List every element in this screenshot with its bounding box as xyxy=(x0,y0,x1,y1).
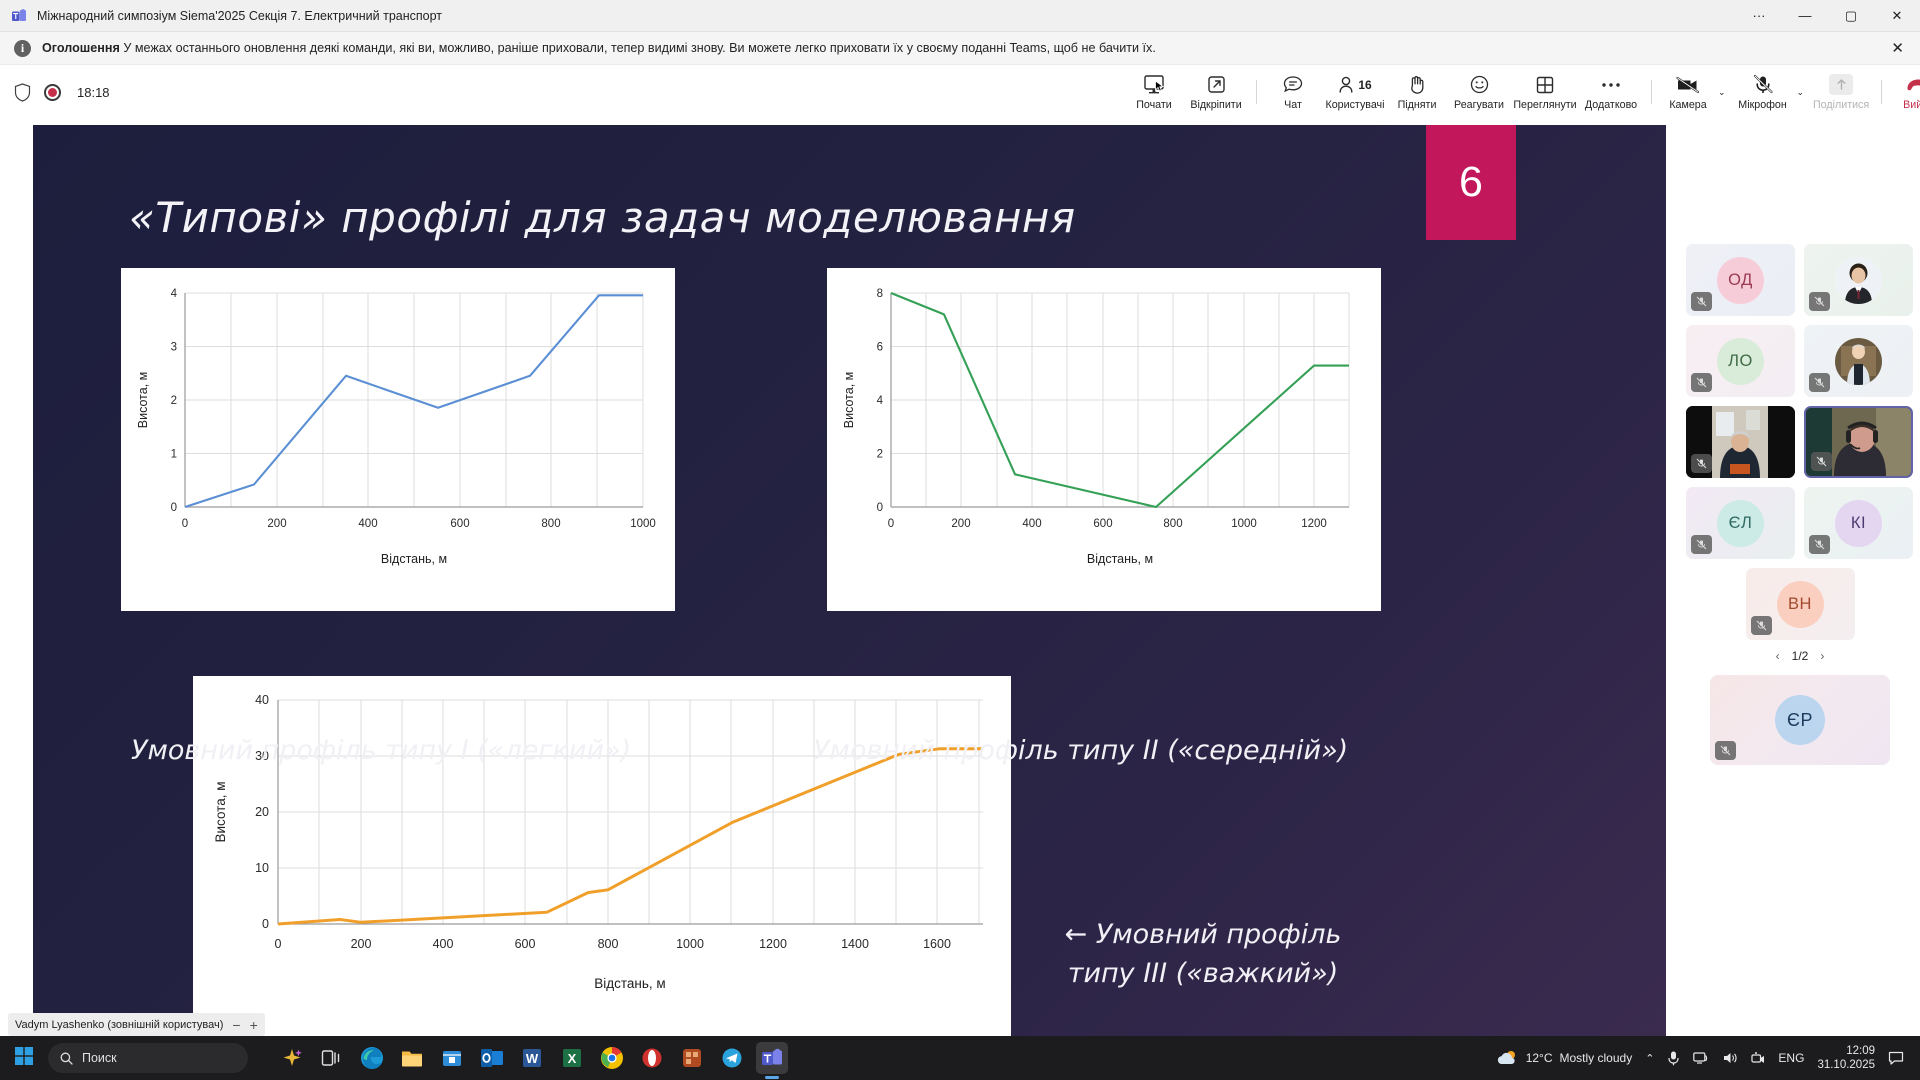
participant-pager: ‹ 1/2 › xyxy=(1686,649,1914,663)
windows-taskbar: Поиск W X xyxy=(0,1036,1920,1080)
chat-icon xyxy=(1282,73,1304,96)
participant-tiles: ОД xyxy=(1686,244,1914,640)
participants-label: Користувачі xyxy=(1326,99,1385,111)
info-icon: i xyxy=(14,40,31,57)
meeting-toolbar: 18:18 Почати xyxy=(0,65,1920,119)
camera-tray-icon[interactable] xyxy=(1751,1051,1765,1065)
svg-text:1400: 1400 xyxy=(841,937,869,951)
window-title-bar: Міжнародний симпозіум Siema'2025 Секція … xyxy=(0,0,1920,32)
meeting-timer: 18:18 xyxy=(77,85,110,100)
camera-chevron-down-icon[interactable]: ⌄ xyxy=(1714,87,1730,98)
leave-label: Вийти xyxy=(1903,99,1920,111)
meeting-controls: Почати Відкріпити xyxy=(1125,65,1920,119)
participant-tile[interactable] xyxy=(1804,244,1913,316)
avatar xyxy=(1835,257,1882,304)
start-presenting-button[interactable]: Почати xyxy=(1125,67,1183,117)
task-view-icon[interactable] xyxy=(316,1042,348,1074)
svg-text:200: 200 xyxy=(951,518,970,530)
shared-slide[interactable]: 6 «Типові» профілі для задач моделювання xyxy=(33,125,1666,1038)
weather-description: Mostly cloudy xyxy=(1560,1051,1633,1065)
svg-text:0: 0 xyxy=(888,518,894,530)
pager-page-indicator: 1/2 xyxy=(1792,649,1809,663)
annotation-profile-3: ← Умовний профіль типу III («важкий») xyxy=(1033,915,1373,993)
chart-1-svg: 4 3 2 1 0 0 200 400 600 800 1000 Відс xyxy=(121,268,675,611)
svg-text:3: 3 xyxy=(171,342,177,354)
participant-tile[interactable]: ЄЛ xyxy=(1686,487,1795,559)
announcement-body: У межах останнього оновлення деякі коман… xyxy=(123,41,1155,55)
slide-number-badge: 6 xyxy=(1426,125,1516,240)
chart-profile-type-3: 40 30 20 10 0 0 200 400 600 800 1000 120… xyxy=(193,676,1011,1038)
avatar: ВН xyxy=(1777,581,1824,628)
microphone-button[interactable]: Мікрофон xyxy=(1730,67,1796,117)
edge-icon[interactable] xyxy=(356,1042,388,1074)
record-icon[interactable] xyxy=(44,84,61,101)
participants-count: 16 xyxy=(1358,78,1371,92)
share-button[interactable]: Поділитися xyxy=(1808,67,1874,117)
outlook-icon[interactable] xyxy=(476,1042,508,1074)
svg-text:1000: 1000 xyxy=(676,937,704,951)
svg-text:10: 10 xyxy=(255,861,269,875)
svg-text:200: 200 xyxy=(267,518,286,530)
mic-off-icon xyxy=(1715,741,1736,760)
svg-text:1: 1 xyxy=(171,449,177,461)
unpin-button[interactable]: Відкріпити xyxy=(1183,67,1249,117)
participant-tile[interactable]: ВН xyxy=(1746,568,1855,640)
participant-tile[interactable]: ОД xyxy=(1686,244,1795,316)
window-maximize-button[interactable]: ▢ xyxy=(1828,0,1874,32)
weather-cloudy-icon xyxy=(1497,1049,1519,1067)
unpin-label: Відкріпити xyxy=(1190,99,1241,111)
chart-3-svg: 40 30 20 10 0 0 200 400 600 800 1000 120… xyxy=(193,676,1011,1038)
raise-hand-label: Підняти xyxy=(1398,99,1437,111)
share-tray-icon xyxy=(1829,73,1853,96)
camera-off-icon xyxy=(1675,73,1701,96)
pop-out-icon xyxy=(1206,73,1227,96)
toolbar-divider-2 xyxy=(1651,80,1652,104)
toolbar-divider-3 xyxy=(1881,80,1882,104)
presenter-name: Vadym Lyashenko (зовнішній користувач) xyxy=(15,1019,223,1031)
window-close-button[interactable]: ✕ xyxy=(1874,0,1920,32)
svg-text:1000: 1000 xyxy=(1231,518,1257,530)
chart-2-svg: 8 6 4 2 0 0 200 400 600 800 1000 1200 xyxy=(827,268,1381,611)
svg-text:1600: 1600 xyxy=(923,937,951,951)
microphone-label: Мікрофон xyxy=(1738,99,1786,111)
teams-app-icon xyxy=(10,7,28,25)
raise-hand-icon xyxy=(1407,73,1427,96)
spotlight-participant-tile[interactable]: ЄР xyxy=(1710,675,1890,765)
meeting-stage: 6 «Типові» профілі для задач моделювання xyxy=(0,119,1920,1044)
camera-label: Камера xyxy=(1669,99,1706,111)
avatar: ЄР xyxy=(1775,695,1825,745)
caption-profile-2: Умовний профіль типу II («середній») xyxy=(813,735,1348,766)
teams-icon[interactable] xyxy=(756,1042,788,1074)
mic-off-icon xyxy=(1811,452,1832,471)
window-title: Міжнародний симпозіум Siema'2025 Секція … xyxy=(37,9,442,23)
shield-icon[interactable] xyxy=(14,83,31,102)
hang-up-icon xyxy=(1905,73,1920,96)
svg-text:0: 0 xyxy=(182,518,188,530)
announcement-label: Оголошення xyxy=(42,41,120,55)
present-screen-icon xyxy=(1143,73,1166,96)
participant-tile-active-speaker[interactable] xyxy=(1804,406,1913,478)
participant-tile[interactable]: ЛО xyxy=(1686,325,1795,397)
view-grid-icon xyxy=(1535,73,1555,96)
svg-text:400: 400 xyxy=(1022,518,1041,530)
svg-text:0: 0 xyxy=(275,937,282,951)
window-controls: ··· — ▢ ✕ xyxy=(1736,0,1920,32)
window-more-button[interactable]: ··· xyxy=(1736,0,1782,32)
svg-text:400: 400 xyxy=(358,518,377,530)
more-button[interactable]: Додатково xyxy=(1578,67,1644,117)
word-icon[interactable]: W xyxy=(516,1042,548,1074)
avatar xyxy=(1835,338,1882,385)
chart-3-xlabel: Відстань, м xyxy=(594,976,665,991)
avatar: ЄЛ xyxy=(1717,500,1764,547)
svg-text:8: 8 xyxy=(877,288,883,300)
svg-text:600: 600 xyxy=(1093,518,1112,530)
notifications-icon[interactable] xyxy=(1888,1051,1904,1065)
search-input[interactable]: Поиск xyxy=(48,1043,248,1073)
more-label: Додатково xyxy=(1585,99,1637,111)
raise-hand-button[interactable]: Підняти xyxy=(1388,67,1446,117)
mic-off-icon xyxy=(1752,73,1774,96)
language-indicator[interactable]: ENG xyxy=(1778,1051,1804,1065)
clock[interactable]: 12:09 31.10.2025 xyxy=(1817,1044,1875,1073)
announcement-close-icon[interactable]: ✕ xyxy=(1891,39,1904,57)
opera-icon[interactable] xyxy=(636,1042,668,1074)
svg-text:0: 0 xyxy=(171,502,177,514)
avatar: КІ xyxy=(1835,500,1882,547)
mic-off-icon xyxy=(1809,292,1830,311)
chart-2-xlabel: Відстань, м xyxy=(1087,552,1153,566)
svg-text:800: 800 xyxy=(598,937,619,951)
system-tray: 12°C Mostly cloudy ⌃ xyxy=(1497,1044,1920,1073)
search-icon xyxy=(60,1052,73,1065)
chat-label: Чат xyxy=(1284,99,1302,111)
mic-off-icon xyxy=(1751,616,1772,635)
svg-text:0: 0 xyxy=(262,917,269,931)
leave-button[interactable]: Вийти xyxy=(1889,67,1920,117)
weather-temperature: 12°C xyxy=(1526,1051,1553,1065)
mic-tray-icon[interactable] xyxy=(1667,1050,1680,1066)
zoom-in-button[interactable]: + xyxy=(250,1017,258,1033)
pager-prev-icon[interactable]: ‹ xyxy=(1776,649,1780,663)
svg-text:800: 800 xyxy=(1163,518,1182,530)
more-dots-icon xyxy=(1600,73,1622,96)
svg-text:1000: 1000 xyxy=(630,518,656,530)
svg-text:0: 0 xyxy=(877,502,883,514)
start-presenting-label: Почати xyxy=(1136,99,1172,111)
volume-tray-icon[interactable] xyxy=(1722,1051,1738,1065)
pager-next-icon[interactable]: › xyxy=(1820,649,1824,663)
microphone-chevron-down-icon[interactable]: ⌄ xyxy=(1793,87,1809,98)
react-emoji-icon xyxy=(1469,73,1490,96)
tray-chevron-up-icon[interactable]: ⌃ xyxy=(1645,1052,1654,1065)
search-placeholder: Поиск xyxy=(82,1051,117,1065)
svg-text:800: 800 xyxy=(541,518,560,530)
file-explorer-icon[interactable] xyxy=(396,1042,428,1074)
participants-button[interactable]: 16 Користувачі xyxy=(1322,67,1388,117)
view-button[interactable]: Переглянути xyxy=(1512,67,1578,117)
chart-1-ylabel: Висота, м xyxy=(136,372,150,428)
svg-text:X: X xyxy=(568,1051,577,1066)
chart-2-ylabel: Висота, м xyxy=(842,372,856,428)
mic-off-icon xyxy=(1691,454,1712,473)
svg-text:600: 600 xyxy=(515,937,536,951)
telegram-icon[interactable] xyxy=(716,1042,748,1074)
taskbar-apps: W X xyxy=(276,1042,788,1074)
teams-meeting-window: Міжнародний симпозіум Siema'2025 Секція … xyxy=(0,0,1920,1080)
svg-text:4: 4 xyxy=(171,288,178,300)
meeting-status-group: 18:18 xyxy=(0,83,110,102)
clock-time: 12:09 xyxy=(1817,1044,1875,1058)
app-orange-icon[interactable] xyxy=(676,1042,708,1074)
avatar: ОД xyxy=(1717,257,1764,304)
svg-text:4: 4 xyxy=(877,395,884,407)
svg-text:600: 600 xyxy=(450,518,469,530)
presenter-zoom-pill[interactable]: Vadym Lyashenko (зовнішній користувач) −… xyxy=(8,1013,265,1036)
weather-widget[interactable]: 12°C Mostly cloudy xyxy=(1497,1049,1633,1067)
announcement-bar: i Оголошення У межах останнього оновленн… xyxy=(0,32,1920,65)
participant-tile[interactable] xyxy=(1686,406,1795,478)
svg-text:20: 20 xyxy=(255,805,269,819)
mic-off-icon xyxy=(1809,373,1830,392)
chrome-icon[interactable] xyxy=(596,1042,628,1074)
svg-text:2: 2 xyxy=(171,395,177,407)
svg-text:1200: 1200 xyxy=(1301,518,1327,530)
windows-start-icon[interactable] xyxy=(14,1046,34,1071)
svg-text:40: 40 xyxy=(255,693,269,707)
mic-off-icon xyxy=(1691,535,1712,554)
zoom-out-button[interactable]: − xyxy=(232,1017,240,1033)
participant-tile[interactable]: КІ xyxy=(1804,487,1913,559)
caption-profile-1: Умовний профіль типу I («легкий») xyxy=(131,735,631,766)
window-minimize-button[interactable]: — xyxy=(1782,0,1828,32)
store-icon[interactable] xyxy=(436,1042,468,1074)
participant-tile[interactable] xyxy=(1804,325,1913,397)
view-label: Переглянути xyxy=(1513,99,1576,111)
chart-profile-type-1: 4 3 2 1 0 0 200 400 600 800 1000 Відс xyxy=(121,268,675,611)
mic-off-icon xyxy=(1809,535,1830,554)
participant-rail: ОД xyxy=(1686,244,1914,765)
chart-1-xlabel: Відстань, м xyxy=(381,552,447,566)
share-label: Поділитися xyxy=(1813,99,1869,111)
excel-icon[interactable]: X xyxy=(556,1042,588,1074)
avatar: ЛО xyxy=(1717,338,1764,385)
clock-date: 31.10.2025 xyxy=(1817,1058,1875,1072)
svg-text:6: 6 xyxy=(877,342,883,354)
announcement-text: Оголошення У межах останнього оновлення … xyxy=(42,41,1156,55)
chat-button[interactable]: Чат xyxy=(1264,67,1322,117)
svg-text:1200: 1200 xyxy=(759,937,787,951)
people-icon: 16 xyxy=(1338,73,1371,96)
svg-text:200: 200 xyxy=(351,937,372,951)
mic-off-icon xyxy=(1691,292,1712,311)
svg-text:2: 2 xyxy=(877,449,883,461)
slide-title: «Типові» профілі для задач моделювання xyxy=(129,193,1076,242)
mic-off-icon xyxy=(1691,373,1712,392)
toolbar-divider xyxy=(1256,80,1257,104)
react-label: Реагувати xyxy=(1454,99,1504,111)
svg-text:400: 400 xyxy=(433,937,454,951)
chart-profile-type-2: 8 6 4 2 0 0 200 400 600 800 1000 1200 xyxy=(827,268,1381,611)
camera-button[interactable]: Камера xyxy=(1659,67,1717,117)
chart-3-ylabel: Висота, м xyxy=(213,782,228,843)
copilot-icon[interactable] xyxy=(276,1042,308,1074)
svg-text:W: W xyxy=(526,1051,539,1066)
react-button[interactable]: Реагувати xyxy=(1446,67,1512,117)
network-tray-icon[interactable] xyxy=(1693,1051,1709,1065)
